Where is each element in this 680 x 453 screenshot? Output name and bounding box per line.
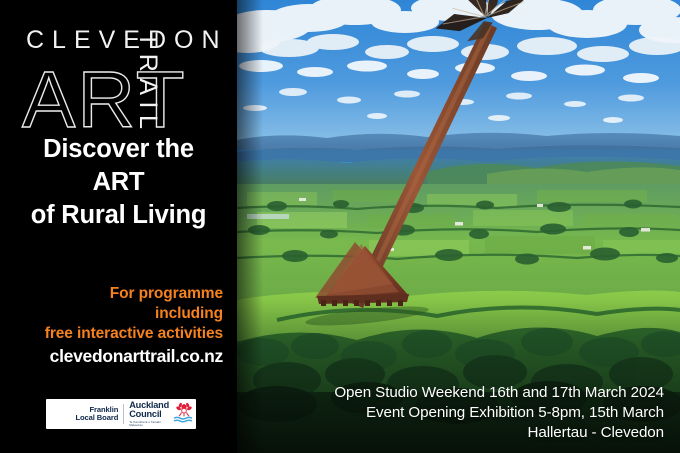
tagline-line-1: Discover the — [0, 133, 237, 166]
franklin-local-board-logo: Franklin Local Board — [46, 406, 123, 423]
event-line-2: Event Opening Exhibition 5-8pm, 15th Mar… — [334, 403, 664, 423]
programme-line-1: For programme — [8, 284, 223, 304]
auckland-line-2: Council — [129, 410, 169, 420]
auckland-council-wordmark: Auckland Council Te Kaunihera o Tamaki M… — [129, 401, 169, 427]
sponsor-logos: Franklin Local Board Auckland Council Te… — [46, 399, 196, 429]
poster: CLEVEDON ART TRAIL Discover the ART of R… — [0, 0, 680, 453]
franklin-line-2: Local Board — [46, 414, 118, 423]
tagline-line-2: ART — [0, 166, 237, 199]
left-panel: CLEVEDON ART TRAIL Discover the ART of R… — [0, 0, 237, 453]
event-details: Open Studio Weekend 16th and 17th March … — [334, 383, 664, 443]
programme-block: For programme including free interactive… — [8, 284, 223, 368]
pohutukawa-icon — [172, 400, 196, 429]
logo-word-clevedon: CLEVEDON — [26, 28, 228, 53]
landscape-photo: Open Studio Weekend 16th and 17th March … — [237, 0, 680, 453]
brand-logo: CLEVEDON ART TRAIL — [0, 14, 237, 130]
auckland-council-logo: Auckland Council Te Kaunihera o Tamaki M… — [124, 400, 196, 429]
tagline: Discover the ART of Rural Living — [0, 133, 237, 232]
tagline-line-3: of Rural Living — [0, 199, 237, 232]
programme-line-3: free interactive activities — [8, 324, 223, 344]
event-line-3: Hallertau - Clevedon — [334, 423, 664, 443]
auckland-maori-text: Te Kaunihera o Tamaki Makaurau — [129, 421, 169, 427]
programme-line-2: including — [8, 304, 223, 324]
logo-word-trail: TRAIL — [135, 32, 160, 135]
event-line-1: Open Studio Weekend 16th and 17th March … — [334, 383, 664, 403]
website-url[interactable]: clevedonarttrail.co.nz — [8, 345, 223, 367]
